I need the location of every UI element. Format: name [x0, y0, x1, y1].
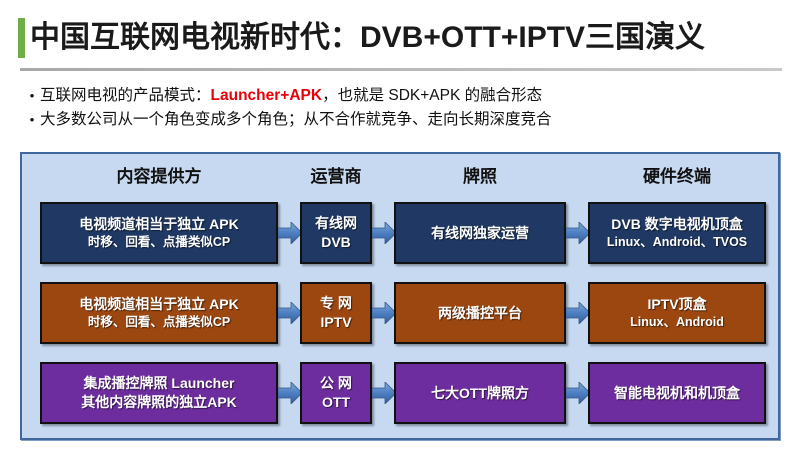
node-iptv-content-provider[interactable]: 电视频道相当于独立 APK 时移、回看、点播类似CP [40, 282, 278, 344]
column-header-license: 牌照 [394, 164, 566, 190]
node-dvb-operator[interactable]: 有线网 DVB [300, 202, 372, 264]
node-iptv-license[interactable]: 两级播控平台 [394, 282, 566, 344]
column-header-content-provider: 内容提供方 [40, 164, 278, 190]
diagram-panel: 内容提供方 运营商 牌照 硬件终端 电视频道相当于独立 APK 时移、回看、点播… [20, 152, 780, 440]
title-divider [20, 68, 782, 71]
arrow-right-icon [278, 222, 302, 244]
diagram-row-iptv: 电视频道相当于独立 APK 时移、回看、点播类似CP 专 网 IPTV 两级播控… [22, 282, 778, 344]
bullet-marker-icon: • [24, 108, 40, 132]
node-label-line1: 专 网 [320, 294, 352, 313]
node-ott-license[interactable]: 七大OTT牌照方 [394, 362, 566, 424]
node-ott-operator[interactable]: 公 网 OTT [300, 362, 372, 424]
diagram-row-ott: 集成播控牌照 Launcher 其他内容牌照的独立APK 公 网 OTT 七大O… [22, 362, 778, 424]
arrow-right-icon [372, 302, 396, 324]
node-dvb-content-provider[interactable]: 电视频道相当于独立 APK 时移、回看、点播类似CP [40, 202, 278, 264]
node-label-line2: Linux、Android [630, 314, 724, 331]
node-ott-content-provider[interactable]: 集成播控牌照 Launcher 其他内容牌照的独立APK [40, 362, 278, 424]
diagram-column-headers: 内容提供方 运营商 牌照 硬件终端 [22, 164, 778, 190]
node-label-line1: 集成播控牌照 Launcher [84, 374, 235, 393]
bullet-text-pre: 互联网电视的产品模式： [40, 84, 211, 108]
title-accent-bar [18, 18, 25, 58]
node-label-line1: 两级播控平台 [438, 304, 522, 323]
column-header-hardware: 硬件终端 [588, 164, 766, 190]
arrow-right-icon [278, 302, 302, 324]
arrow-right-icon [372, 222, 396, 244]
node-label-line1: 公 网 [320, 374, 352, 393]
arrow-right-icon [566, 382, 590, 404]
node-label-line2: 时移、回看、点播类似CP [88, 314, 230, 331]
node-iptv-hardware[interactable]: IPTV顶盒 Linux、Android [588, 282, 766, 344]
slide-title-bar: 中国互联网电视新时代：DVB+OTT+IPTV三国演义 [0, 14, 800, 62]
node-label-line1: DVB 数字电视机顶盒 [611, 215, 742, 234]
page-title: 中国互联网电视新时代：DVB+OTT+IPTV三国演义 [30, 23, 705, 53]
diagram-row-dvb: 电视频道相当于独立 APK 时移、回看、点播类似CP 有线网 DVB 有线网独家… [22, 202, 778, 264]
node-label-line1: 智能电视机和机顶盒 [614, 384, 740, 403]
node-label-line2: Linux、Android、TVOS [607, 234, 747, 251]
list-item: • 互联网电视的产品模式： Launcher+APK ，也就是 SDK+APK … [24, 84, 784, 108]
bullet-marker-icon: • [24, 84, 40, 108]
column-header-operator: 运营商 [280, 164, 392, 190]
node-label-line1: 七大OTT牌照方 [431, 384, 529, 403]
bullet-text-pre: 大多数公司从一个角色变成多个角色；从不合作就竞争、走向长期深度竞合 [40, 108, 552, 132]
node-label-line1: 有线网 [315, 214, 357, 233]
node-label-line2: DVB [321, 233, 351, 252]
bullet-text-post: ，也就是 SDK+APK 的融合形态 [322, 84, 542, 108]
arrow-right-icon [372, 382, 396, 404]
bullet-highlight: Launcher+APK [211, 84, 323, 108]
node-dvb-hardware[interactable]: DVB 数字电视机顶盒 Linux、Android、TVOS [588, 202, 766, 264]
node-label-line1: 电视频道相当于独立 APK [79, 215, 238, 234]
node-label-line1: 有线网独家运营 [431, 224, 529, 243]
node-label-line1: 电视频道相当于独立 APK [79, 295, 238, 314]
node-label-line2: IPTV [320, 313, 351, 332]
bullet-list: • 互联网电视的产品模式： Launcher+APK ，也就是 SDK+APK … [24, 84, 784, 132]
node-label-line2: 时移、回看、点播类似CP [88, 234, 230, 251]
node-iptv-operator[interactable]: 专 网 IPTV [300, 282, 372, 344]
arrow-right-icon [566, 222, 590, 244]
node-dvb-license[interactable]: 有线网独家运营 [394, 202, 566, 264]
arrow-right-icon [566, 302, 590, 324]
node-label-line2: OTT [322, 393, 350, 412]
node-label-line1: IPTV顶盒 [647, 295, 706, 314]
node-label-line2: 其他内容牌照的独立APK [81, 393, 237, 412]
list-item: • 大多数公司从一个角色变成多个角色；从不合作就竞争、走向长期深度竞合 [24, 108, 784, 132]
arrow-right-icon [278, 382, 302, 404]
node-ott-hardware[interactable]: 智能电视机和机顶盒 [588, 362, 766, 424]
